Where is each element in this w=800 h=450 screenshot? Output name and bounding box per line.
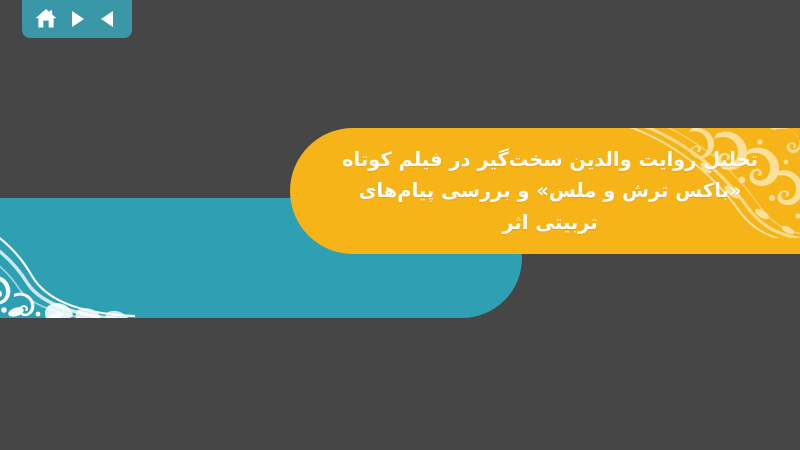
title-panel: تحلیل روایت والدین سخت‌گیر در فیلم کوتاه…: [290, 128, 800, 254]
title-line-1: تحلیل روایت والدین سخت‌گیر در فیلم کوتاه: [342, 144, 758, 176]
triangle-right-icon: [66, 8, 88, 30]
arabesque-corner-ornament: [0, 198, 135, 318]
slide-title: تحلیل روایت والدین سخت‌گیر در فیلم کوتاه…: [290, 128, 800, 254]
title-line-2: «باکس ترش و ملس» و بررسی پیام‌های: [359, 175, 742, 207]
next-slide-button[interactable]: [64, 6, 90, 32]
title-line-3: تربیتی اثر: [502, 207, 597, 239]
previous-slide-button[interactable]: [95, 6, 121, 32]
home-icon: [34, 7, 58, 31]
slide-canvas: تحلیل روایت والدین سخت‌گیر در فیلم کوتاه…: [0, 0, 800, 450]
slide-navigation-bar[interactable]: [22, 0, 132, 38]
home-button[interactable]: [33, 6, 59, 32]
triangle-left-icon: [97, 8, 119, 30]
